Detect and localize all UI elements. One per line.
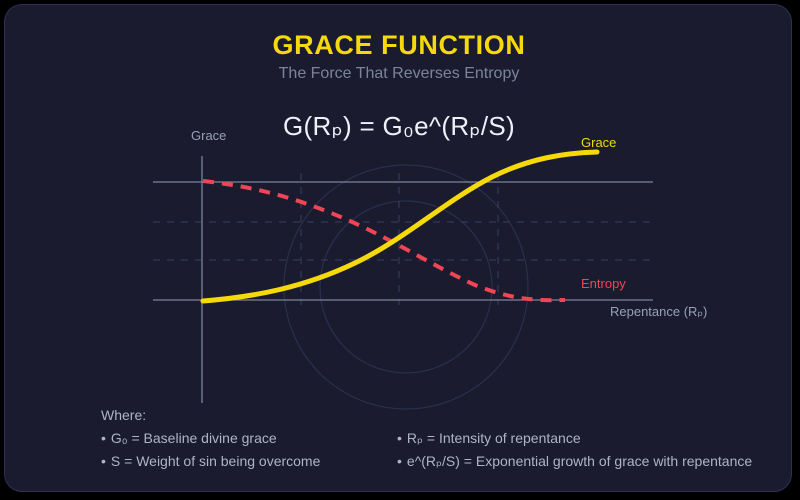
legend-item: e^(Rₚ/S) = Exponential growth of grace w… xyxy=(397,453,752,470)
x-axis-label: Repentance (Rₚ) xyxy=(610,304,707,320)
legend-item: S = Weight of sin being overcome xyxy=(101,453,320,469)
series-line-grace xyxy=(203,152,597,301)
legend-item: G₀ = Baseline divine grace xyxy=(101,430,277,446)
series-label-entropy: Entropy xyxy=(581,276,626,291)
series-label-grace: Grace xyxy=(581,135,616,150)
y-axis-label: Grace xyxy=(191,128,226,143)
legend-item: Rₚ = Intensity of repentance xyxy=(397,430,581,447)
gridlines-solid xyxy=(153,182,653,300)
gridlines-dashed xyxy=(153,173,650,305)
series-line-entropy xyxy=(203,181,565,300)
legend-heading: Where: xyxy=(101,407,792,423)
legend-block: Where: G₀ = Baseline divine grace S = We… xyxy=(101,407,792,430)
grace-function-card: GRACE FUNCTION The Force That Reverses E… xyxy=(4,4,792,492)
